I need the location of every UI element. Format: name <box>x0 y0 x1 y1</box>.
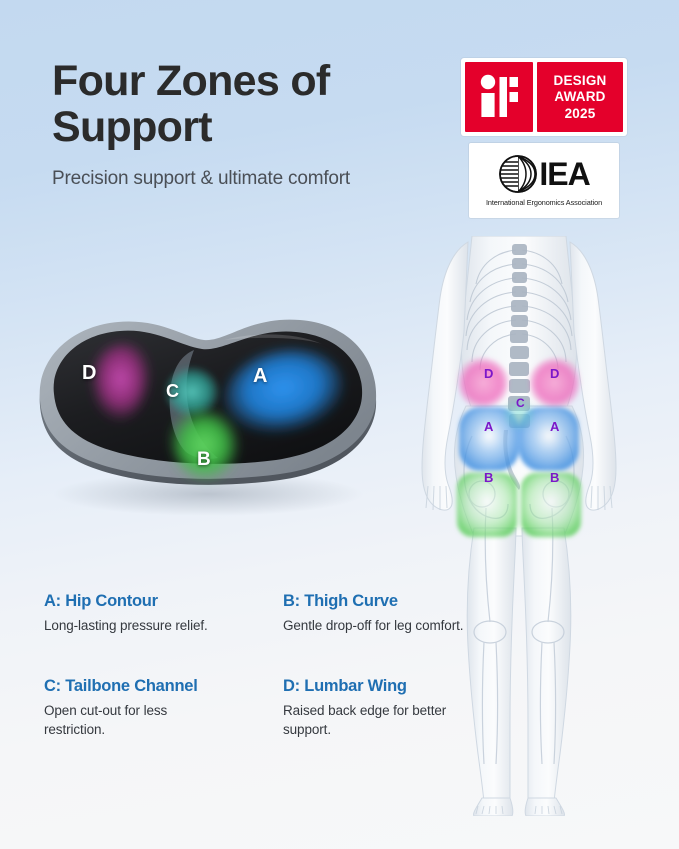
if-logo-icon <box>477 74 521 120</box>
if-award-line-3: 2025 <box>565 106 596 121</box>
legend-heading-a: A: Hip Contour <box>44 592 283 611</box>
page-title: Four Zones of Support <box>52 58 452 150</box>
iea-logo-row: IEA <box>498 154 589 194</box>
legend-item-a: A: Hip Contour Long-lasting pressure rel… <box>44 592 283 635</box>
zone-legend: A: Hip Contour Long-lasting pressure rel… <box>44 592 474 739</box>
legend-item-b: B: Thigh Curve Gentle drop-off for leg c… <box>283 592 474 635</box>
if-logo-panel <box>465 62 533 132</box>
iea-caption: International Ergonomics Association <box>486 198 602 207</box>
legend-item-c: C: Tailbone Channel Open cut-out for les… <box>44 677 283 739</box>
anatomy-zone-c <box>503 398 535 430</box>
legend-heading-c: C: Tailbone Channel <box>44 677 283 696</box>
award-badges: DESIGN AWARD 2025 <box>461 58 631 218</box>
iea-globe-icon <box>498 154 538 194</box>
if-award-line-2: AWARD <box>554 89 605 104</box>
legend-description-b: Gentle drop-off for leg comfort. <box>283 616 468 635</box>
cushion-zone-c <box>165 367 219 417</box>
if-award-line-1: DESIGN <box>554 73 607 88</box>
infographic-page: Four Zones of Support Precision support … <box>0 0 679 849</box>
cushion-svg <box>18 288 390 520</box>
legend-description-a: Long-lasting pressure relief. <box>44 616 229 635</box>
legend-description-d: Raised back edge for better support. <box>283 701 468 739</box>
legend-description-c: Open cut-out for less restriction. <box>44 701 229 739</box>
header-block: Four Zones of Support Precision support … <box>52 58 452 190</box>
legend-heading-b: B: Thigh Curve <box>283 592 474 611</box>
legend-heading-d: D: Lumbar Wing <box>283 677 474 696</box>
legend-item-d: D: Lumbar Wing Raised back edge for bett… <box>283 677 474 739</box>
page-title-line-2: Support <box>52 104 452 150</box>
cushion-illustration <box>18 288 390 520</box>
if-award-text-panel: DESIGN AWARD 2025 <box>537 62 623 132</box>
page-subtitle: Precision support & ultimate comfort <box>52 168 452 190</box>
if-design-award-badge: DESIGN AWARD 2025 <box>461 58 627 136</box>
iea-badge: IEA International Ergonomics Association <box>469 143 619 218</box>
iea-acronym: IEA <box>539 158 589 190</box>
page-title-line-1: Four Zones of <box>52 58 452 104</box>
